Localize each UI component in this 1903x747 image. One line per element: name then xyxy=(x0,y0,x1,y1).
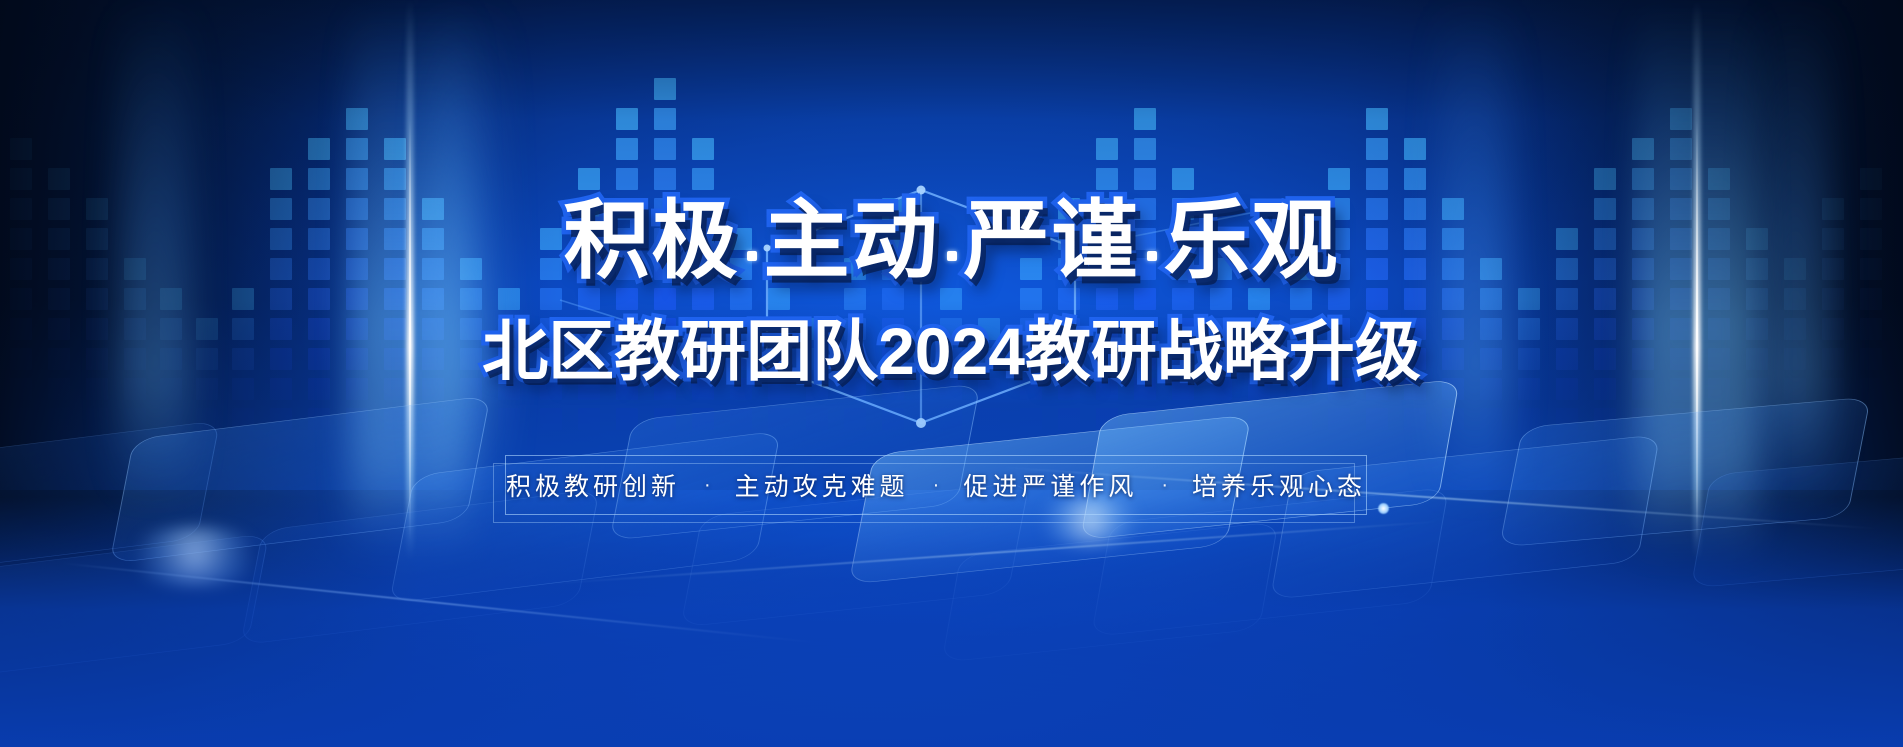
tagline-item: 积极教研创新 xyxy=(506,467,680,503)
tagline-separator: · xyxy=(704,474,711,497)
title-word: 积极 xyxy=(564,198,740,284)
main-title: 积极主动严谨乐观 xyxy=(0,198,1903,284)
title-word: 严谨 xyxy=(964,198,1140,284)
subtitle: 北区教研团队2024教研战略升级 xyxy=(0,318,1903,384)
title-separator-dot xyxy=(947,251,957,261)
tagline-separator: · xyxy=(1161,474,1168,497)
tagline-separator: · xyxy=(933,474,940,497)
title-word: 乐观 xyxy=(1164,198,1340,284)
tagline-accent-dot xyxy=(1378,503,1389,514)
tagline-text: 积极教研创新·主动攻克难题·促进严谨作风·培养乐观心态 xyxy=(505,455,1367,515)
banner-canvas: 积极主动严谨乐观 北区教研团队2024教研战略升级 积极教研创新·主动攻克难题·… xyxy=(0,0,1903,747)
tagline-item: 培养乐观心态 xyxy=(1192,467,1366,503)
tagline-item: 主动攻克难题 xyxy=(735,467,909,503)
title-separator-dot xyxy=(747,251,757,261)
tagline-item: 促进严谨作风 xyxy=(963,467,1137,503)
title-word: 主动 xyxy=(764,198,940,284)
banner-content: 积极主动严谨乐观 北区教研团队2024教研战略升级 积极教研创新·主动攻克难题·… xyxy=(0,0,1903,747)
tagline-frame: 积极教研创新·主动攻克难题·促进严谨作风·培养乐观心态 xyxy=(505,455,1367,515)
title-separator-dot xyxy=(1147,251,1157,261)
